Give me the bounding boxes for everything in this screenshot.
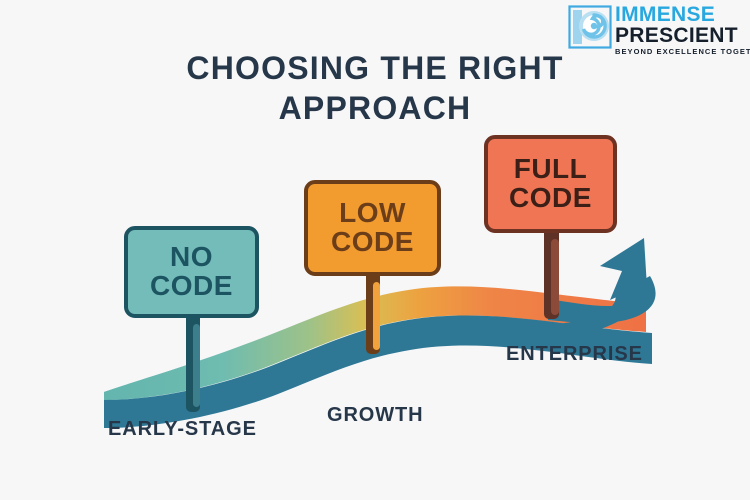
sign-low-code-line-1: LOW	[339, 199, 406, 228]
sign-post-full-code	[544, 229, 559, 319]
infographic-canvas: IMMENSE PRESCIENT BEYOND EXCELLENCE TOGE…	[0, 0, 750, 500]
sign-no-code-line-2: CODE	[150, 272, 233, 301]
sign-post-inner-no-code	[193, 324, 200, 407]
brand-line-1: IMMENSE	[615, 4, 750, 25]
stage-label-early-stage: EARLY-STAGE	[108, 418, 257, 441]
sign-board-low-code: LOW CODE	[304, 180, 441, 276]
page-title-line-1: CHOOSING THE RIGHT	[0, 48, 750, 88]
sign-post-no-code	[186, 314, 200, 412]
sign-board-no-code: NO CODE	[124, 226, 259, 318]
brand-logo: IMMENSE PRESCIENT BEYOND EXCELLENCE TOGE…	[568, 4, 746, 54]
spiral-p-logo-icon	[568, 5, 612, 49]
sign-board-full-code: FULL CODE	[484, 135, 617, 233]
page-title: CHOOSING THE RIGHT APPROACH	[0, 48, 750, 128]
sign-full-code-line-2: CODE	[509, 184, 592, 213]
stage-label-growth: GROWTH	[327, 404, 424, 427]
sign-no-code-line-1: NO	[170, 243, 213, 272]
page-title-line-2: APPROACH	[0, 88, 750, 128]
sign-full-code-line-1: FULL	[514, 155, 588, 184]
brand-line-2: PRESCIENT	[615, 25, 750, 47]
sign-post-low-code	[366, 272, 380, 354]
sign-post-inner-full-code	[551, 239, 559, 315]
sign-post-inner-low-code	[373, 282, 380, 350]
stage-label-enterprise: ENTERPRISE	[506, 343, 643, 366]
sign-low-code-line-2: CODE	[331, 228, 414, 257]
